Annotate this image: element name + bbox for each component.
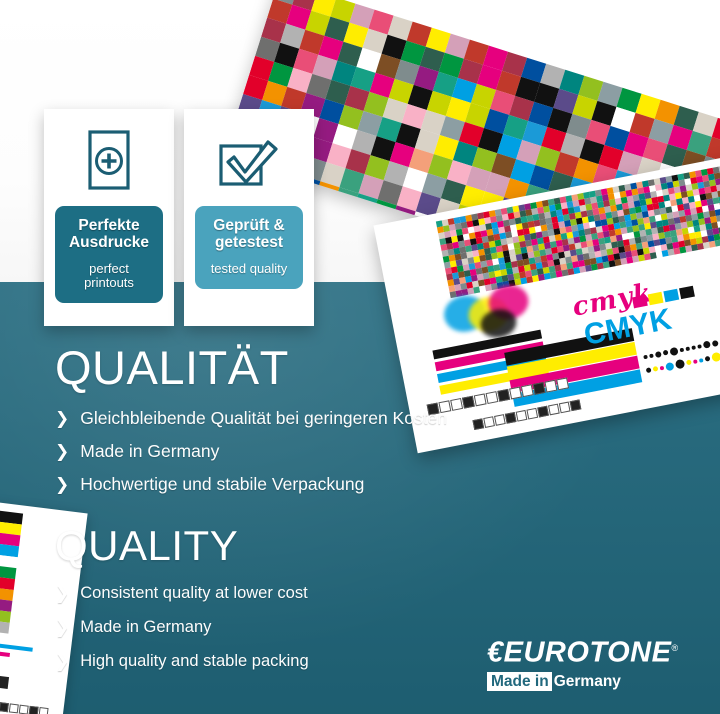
registered-icon: ® <box>671 643 678 653</box>
list-item-label: Gleichbleibende Qualität bei geringeren … <box>80 408 447 429</box>
list-item-label: Made in Germany <box>80 617 211 638</box>
card-title-en-line1: tested quality <box>199 262 299 276</box>
brand-name: EUROTONE <box>504 637 672 669</box>
list-item-label: High quality and stable packing <box>80 651 308 672</box>
list-item: ❯ Made in Germany <box>55 441 655 462</box>
chevron-right-icon: ❯ <box>55 617 69 638</box>
card-title-de-line1: Perfekte <box>59 217 159 234</box>
country-label: Germany <box>552 673 621 690</box>
feature-card-caption: Geprüft & getestest tested quality <box>195 206 303 289</box>
feature-cards: Perfekte Ausdrucke perfect printouts Gep… <box>44 109 314 326</box>
feature-card-caption: Perfekte Ausdrucke perfect printouts <box>55 206 163 303</box>
card-title-de-line2: getestest <box>199 234 299 251</box>
brand-wordmark: €EUROTONE® <box>487 633 679 669</box>
card-title-en-line2: printouts <box>59 276 159 290</box>
chevron-right-icon: ❯ <box>55 651 69 672</box>
list-item-label: Hochwertige und stabile Verpackung <box>80 474 364 495</box>
promo-banner: cmyk CMYK <box>0 0 720 714</box>
list-item-label: Made in Germany <box>80 441 219 462</box>
feature-card-tested-quality[interactable]: Geprüft & getestest tested quality <box>184 109 314 326</box>
bullet-list-de: ❯ Gleichbleibende Qualität bei geringere… <box>55 408 655 495</box>
chevron-right-icon: ❯ <box>55 408 69 429</box>
chevron-right-icon: ❯ <box>55 583 69 604</box>
list-item-label: Consistent quality at lower cost <box>80 583 307 604</box>
page-title-en: QUALITY <box>55 521 655 571</box>
feature-card-perfect-printouts[interactable]: Perfekte Ausdrucke perfect printouts <box>44 109 174 326</box>
chevron-right-icon: ❯ <box>55 441 69 462</box>
card-title-de-line1: Geprüft & <box>199 217 299 234</box>
list-item: ❯ Gleichbleibende Qualität bei geringere… <box>55 408 655 429</box>
list-item: ❯ Hochwertige und stabile Verpackung <box>55 474 655 495</box>
made-in-label: Made in <box>487 672 552 691</box>
page-title-de: QUALITÄT <box>55 340 655 396</box>
brand-logo: €EUROTONE® Made in Germany <box>487 633 687 691</box>
list-item: ❯ Consistent quality at lower cost <box>55 583 655 604</box>
chevron-right-icon: ❯ <box>55 474 69 495</box>
euro-symbol: € <box>487 637 504 669</box>
made-in-germany: Made in Germany <box>487 672 687 691</box>
card-title-de-line2: Ausdrucke <box>59 234 159 251</box>
card-title-en-line1: perfect <box>59 262 159 276</box>
document-plus-icon <box>81 124 137 202</box>
checkbox-check-icon <box>216 124 282 202</box>
